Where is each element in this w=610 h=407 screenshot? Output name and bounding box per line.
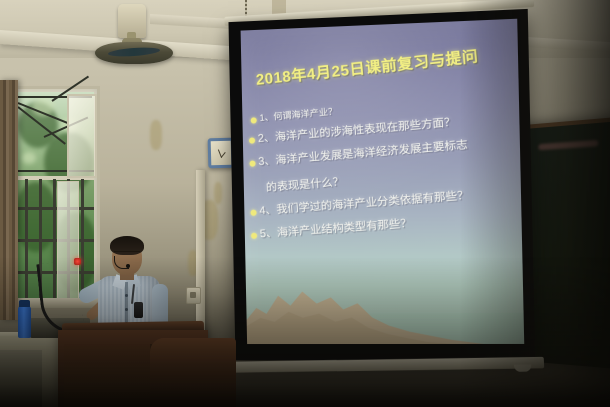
clock-minute-hand: [218, 149, 222, 158]
bullet-dot-icon: [250, 117, 256, 124]
bullet-dot-icon: [249, 160, 255, 166]
clock-face: [211, 141, 232, 166]
window-open-pane-upper[interactable]: [67, 94, 97, 178]
slide-bullet-text: 5、海洋产业结构类型有那些？: [259, 217, 412, 242]
bullet-dot-icon: [251, 232, 257, 238]
room-shadow-bottom: [0, 257, 610, 407]
fan-mount-bracket: [118, 4, 146, 38]
bullet-dot-icon: [250, 209, 256, 215]
wall-stain: [150, 120, 162, 150]
slide-bullet-text: 4、我们学过的海洋产业分类依据有那些？: [259, 189, 469, 219]
classroom-scene: 2018年4月25日课前复习与提问 1、何谓海洋产业？ 2、海洋产业的涉海性表现…: [0, 0, 610, 407]
wall-stain: [214, 182, 222, 204]
bullet-dot-icon: [249, 138, 255, 144]
slide-bullet-text: 1、何谓海洋产业？: [259, 106, 337, 124]
